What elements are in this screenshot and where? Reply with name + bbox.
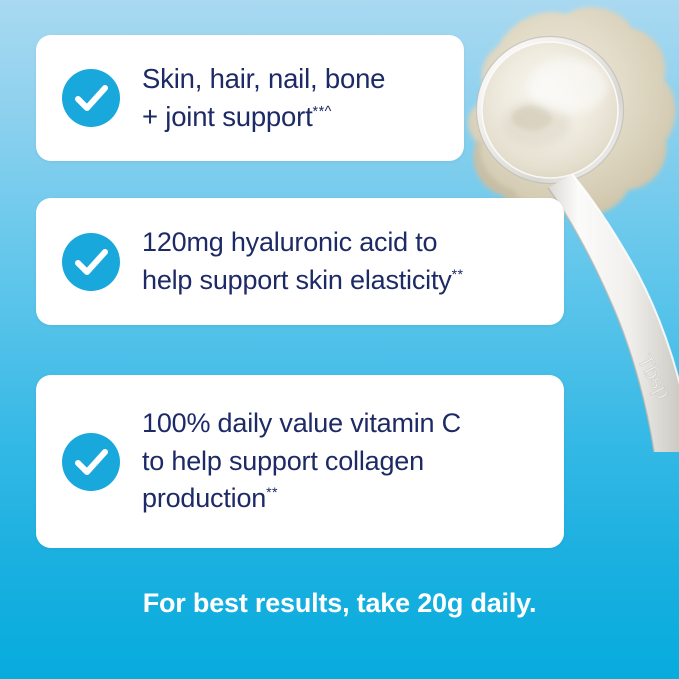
scoop-handle: Tbsp bbox=[548, 174, 679, 452]
benefit-text-3: 100% daily value vitamin C to help suppo… bbox=[142, 405, 471, 518]
benefit-footnote-3: ** bbox=[266, 484, 278, 500]
usage-instruction-text: For best results, take 20g daily. bbox=[0, 588, 679, 619]
benefit-card-1: Skin, hair, nail, bone + joint support**… bbox=[36, 35, 464, 161]
infographic-canvas: Tbsp Skin, hair, nail, bone + joint supp… bbox=[0, 0, 679, 679]
check-circle-icon bbox=[62, 433, 120, 491]
benefit-body-3: 100% daily value vitamin C to help suppo… bbox=[142, 408, 461, 514]
benefit-footnote-1: **^ bbox=[313, 104, 332, 120]
scoop-tbsp-label: Tbsp bbox=[633, 351, 675, 403]
benefit-footnote-2: ** bbox=[452, 266, 464, 282]
check-circle-icon bbox=[62, 233, 120, 291]
benefit-text-2: 120mg hyaluronic acid to help support sk… bbox=[142, 224, 473, 300]
scoop-bowl bbox=[477, 37, 624, 184]
benefit-body-1: Skin, hair, nail, bone + joint support bbox=[142, 63, 385, 133]
benefit-text-1: Skin, hair, nail, bone + joint support**… bbox=[142, 60, 395, 137]
spilled-powder-mound bbox=[468, 7, 676, 219]
check-circle-icon bbox=[62, 69, 120, 127]
benefit-body-2: 120mg hyaluronic acid to help support sk… bbox=[142, 227, 452, 295]
benefit-card-2: 120mg hyaluronic acid to help support sk… bbox=[36, 198, 564, 325]
benefit-card-3: 100% daily value vitamin C to help suppo… bbox=[36, 375, 564, 548]
